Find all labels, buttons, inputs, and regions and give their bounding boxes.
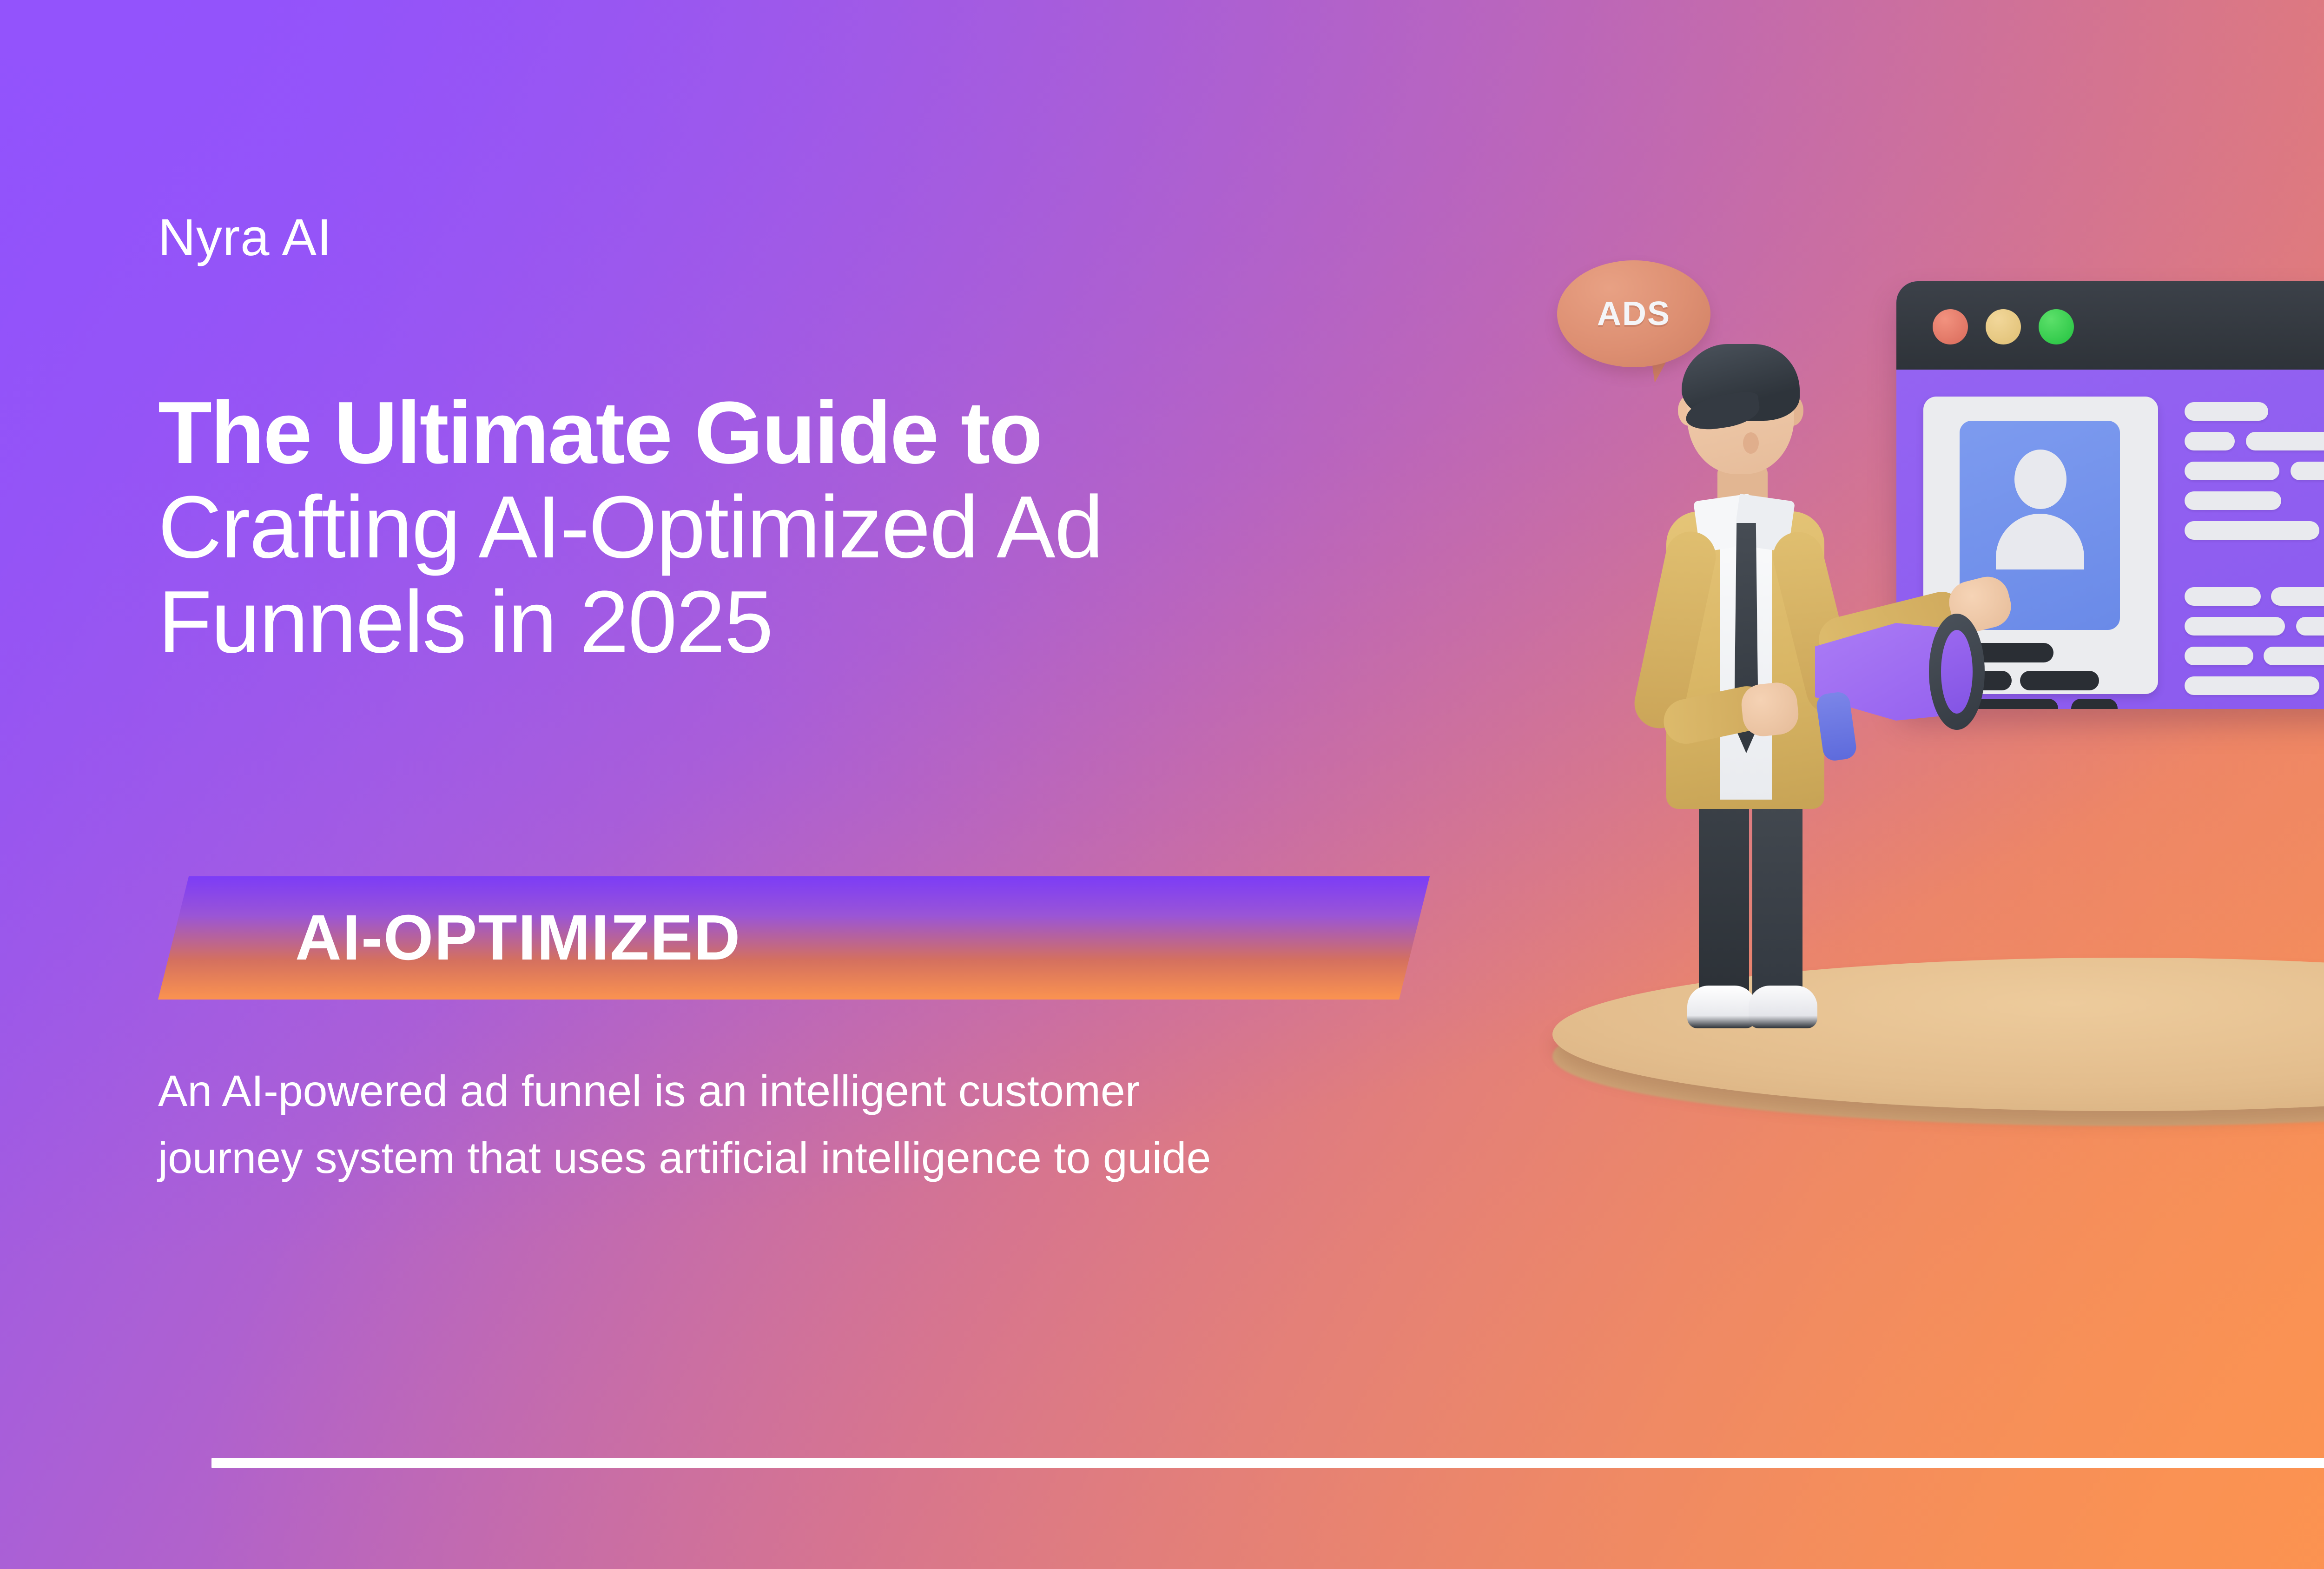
traffic-light-green-icon <box>2039 309 2074 344</box>
profile-text-bar <box>2071 699 2118 709</box>
character-nose <box>1743 432 1759 454</box>
headline-line-3: Funnels in 2025 <box>158 575 1576 669</box>
bottom-divider <box>211 1458 2324 1468</box>
hero-illustration: ADs ADS <box>1487 265 2324 1288</box>
character-shoe-left <box>1687 986 1756 1028</box>
skeleton-text-line <box>2291 462 2324 480</box>
page-title: The Ultimate Guide to Crafting AI-Optimi… <box>158 386 1576 669</box>
skeleton-text-line <box>2185 676 2319 695</box>
skeleton-text-line <box>2271 587 2324 606</box>
badge-label: AI-OPTIMIZED <box>295 900 741 977</box>
profile-text-bar <box>2020 671 2099 690</box>
browser-titlebar <box>1896 281 2324 370</box>
brand-name: Nyra AI <box>158 212 332 264</box>
traffic-light-red-icon <box>1933 309 1968 344</box>
character-hand-left <box>1739 681 1800 738</box>
character-shoe-right <box>1749 986 1817 1028</box>
megaphone-mouth <box>1941 630 1973 714</box>
character-leg-right <box>1752 790 1802 1009</box>
skeleton-text-line <box>2185 491 2281 510</box>
skeleton-text-line <box>2246 432 2324 450</box>
character-leg-left <box>1699 790 1749 1009</box>
skeleton-text-line <box>2185 462 2279 480</box>
skeleton-text-line <box>2185 617 2285 636</box>
text-column: Nyra AI The Ultimate Guide to Crafting A… <box>153 0 1594 1569</box>
decor-group <box>2305 609 2324 990</box>
character-illustration <box>1604 325 1892 1032</box>
traffic-light-yellow-icon <box>1986 309 2021 344</box>
skeleton-text-line <box>2185 402 2268 421</box>
body-line-1: An AI-powered ad funnel is an intelligen… <box>158 1058 1552 1125</box>
body-line-2: journey system that uses artificial inte… <box>158 1125 1552 1192</box>
skeleton-text-line <box>2185 647 2253 665</box>
headline-line-1: The Ultimate Guide to <box>158 386 1576 480</box>
headline-line-2: Crafting AI-Optimized Ad <box>158 480 1576 575</box>
avatar-head-icon <box>2014 450 2067 509</box>
skeleton-text-line <box>2185 521 2319 540</box>
body-paragraph: An AI-powered ad funnel is an intelligen… <box>158 1058 1552 1192</box>
skeleton-text-line <box>2185 587 2261 606</box>
status-badge: AI-OPTIMIZED <box>158 876 1413 1000</box>
avatar-body-icon <box>1996 514 2084 569</box>
skeleton-text-line <box>2185 432 2235 450</box>
